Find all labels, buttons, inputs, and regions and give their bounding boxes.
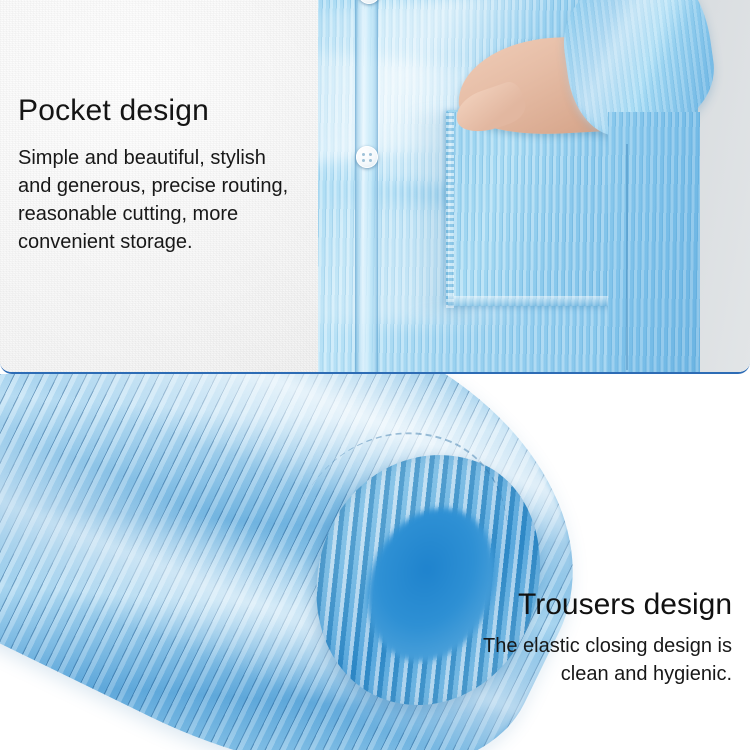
pocket-pinstripe-texture [448, 112, 634, 306]
pocket-body-text: Simple and beautiful, stylish and genero… [18, 144, 318, 256]
pocket-caption-block: Pocket design Simple and beautiful, styl… [18, 94, 318, 256]
shirt-button-middle [356, 146, 378, 168]
side-seam-line [626, 144, 628, 370]
smock-side-panel [608, 112, 700, 374]
pocket-seam-stitching [446, 112, 454, 308]
patch-pocket [446, 110, 634, 306]
pocket-design-panel: Pocket design Simple and beautiful, styl… [0, 0, 750, 374]
trousers-title: Trousers design [402, 588, 732, 622]
trousers-design-panel: Trousers design The elastic closing desi… [0, 374, 750, 750]
product-detail-image: Pocket design Simple and beautiful, styl… [0, 0, 750, 750]
button-placket [355, 0, 378, 374]
pocket-photo [318, 0, 750, 374]
pocket-title: Pocket design [18, 94, 318, 128]
smock-body [318, 0, 698, 374]
side-pinstripe-texture [608, 112, 700, 374]
trousers-caption-block: Trousers design The elastic closing desi… [402, 588, 732, 688]
trousers-body-text: The elastic closing design is clean and … [402, 632, 732, 688]
